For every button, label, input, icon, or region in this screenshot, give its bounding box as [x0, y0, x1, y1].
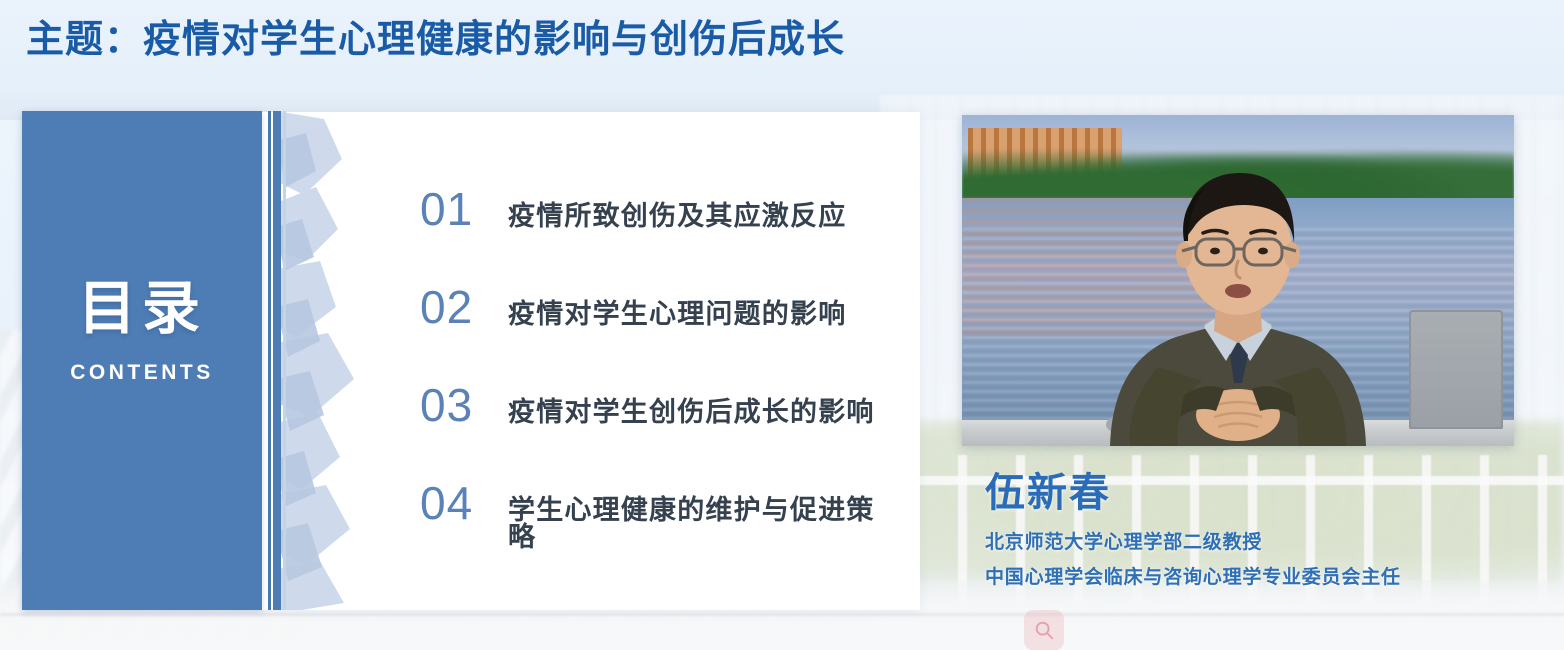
divider-bar-pale	[283, 111, 286, 610]
speaker-affiliation-2: 中国心理学会临床与咨询心理学专业委员会主任	[985, 565, 1545, 591]
toc-panel: 目录 CONTENTS	[22, 111, 262, 610]
divider-bar-thick	[273, 111, 281, 610]
toc-item-label: 学生心理健康的维护与促进策略	[508, 497, 900, 551]
toc-list: 01 疫情所致创伤及其应激反应 02 疫情对学生心理问题的影响 03 疫情对学生…	[420, 186, 900, 578]
toc-item-04[interactable]: 04 学生心理健康的维护与促进策略	[420, 480, 900, 578]
search-icon-watermark	[1024, 610, 1064, 650]
speaker-affiliation-1: 北京师范大学心理学部二级教授	[985, 530, 1545, 556]
toc-item-number: 01	[420, 186, 508, 232]
speaker-figure	[962, 115, 1514, 446]
divider-bar-thin	[268, 111, 271, 610]
presentation-slide: 主题：疫情对学生心理健康的影响与创伤后成长	[0, 0, 1564, 650]
toc-item-number: 03	[420, 382, 508, 428]
search-icon	[1033, 619, 1055, 641]
toc-item-label: 疫情所致创伤及其应激反应	[508, 203, 846, 230]
toc-item-number: 04	[420, 480, 508, 526]
toc-item-number: 02	[420, 284, 508, 330]
toc-item-label: 疫情对学生心理问题的影响	[508, 301, 846, 328]
toc-heading-block: 目录 CONTENTS	[22, 277, 262, 385]
toc-item-01[interactable]: 01 疫情所致创伤及其应激反应	[420, 186, 900, 284]
speaker-info: 伍新春 北京师范大学心理学部二级教授 中国心理学会临床与咨询心理学专业委员会主任	[985, 470, 1545, 590]
toc-item-03[interactable]: 03 疫情对学生创伤后成长的影响	[420, 382, 900, 480]
speaker-video[interactable]	[962, 115, 1514, 446]
toc-item-02[interactable]: 02 疫情对学生心理问题的影响	[420, 284, 900, 382]
speaker-name: 伍新春	[985, 470, 1545, 516]
toc-heading-cn: 目录	[22, 277, 262, 341]
toc-heading-en: CONTENTS	[22, 361, 262, 385]
toc-item-label: 疫情对学生创伤后成长的影响	[508, 399, 875, 426]
slide-title: 主题：疫情对学生心理健康的影响与创伤后成长	[26, 8, 845, 63]
background-horizon-line	[0, 613, 1564, 616]
